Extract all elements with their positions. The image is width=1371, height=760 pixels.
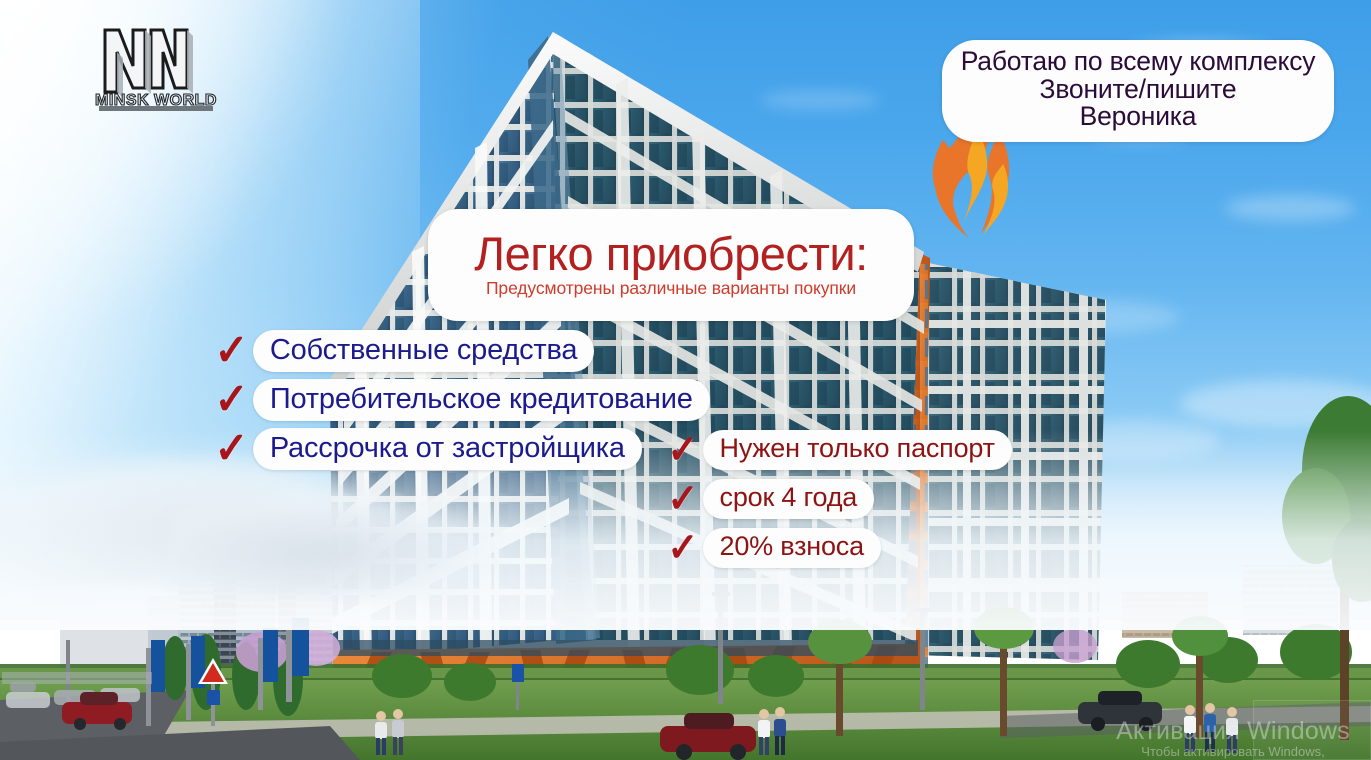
check-icon: ✓	[667, 479, 698, 519]
headline-card: Легко приобрести: Предусмотрены различны…	[428, 209, 914, 321]
cloud-bank	[170, 495, 500, 600]
logo-wordmark: MINSK WORLD	[95, 92, 217, 109]
payment-option-label: Потребительское кредитование	[253, 379, 710, 421]
check-icon: ✓	[214, 427, 248, 471]
contact-callout[interactable]: Работаю по всему комплексу Звоните/пишит…	[942, 40, 1334, 142]
contact-line-3: Вероника	[1080, 103, 1197, 131]
check-icon: ✓	[214, 378, 248, 422]
check-icon: ✓	[667, 430, 698, 470]
check-icon: ✓	[667, 528, 698, 568]
page-title: Легко приобрести:	[474, 230, 867, 278]
check-icon: ✓	[214, 329, 248, 373]
advertisement-slide: MINSK WORLD Работаю по всему комплексу З…	[0, 0, 1371, 760]
page-subtitle: Предусмотрены различные варианты покупки	[486, 279, 856, 298]
installment-term-label: срок 4 года	[703, 479, 875, 519]
installment-term-row[interactable]: ✓ срок 4 года	[666, 479, 874, 519]
minsk-world-logo[interactable]: MINSK WORLD	[93, 18, 219, 116]
payment-option-label: Рассрочка от застройщика	[253, 428, 642, 470]
payment-option-row[interactable]: ✓ Собственные средства	[213, 329, 594, 373]
installment-term-label: 20% взноса	[703, 528, 881, 568]
watermark-frame	[1253, 700, 1371, 760]
mw-monogram-icon: MINSK WORLD	[93, 18, 219, 116]
installment-term-label: Нужен только паспорт	[703, 430, 1012, 470]
installment-term-row[interactable]: ✓ 20% взноса	[666, 528, 881, 568]
payment-option-row[interactable]: ✓ Потребительское кредитование	[213, 378, 710, 422]
payment-option-label: Собственные средства	[253, 330, 594, 372]
payment-option-row[interactable]: ✓ Рассрочка от застройщика	[213, 427, 642, 471]
contact-line-1: Работаю по всему комплексу	[961, 48, 1316, 76]
installment-term-row[interactable]: ✓ Нужен только паспорт	[666, 430, 1012, 470]
contact-line-2: Звоните/пишите	[1040, 76, 1237, 104]
